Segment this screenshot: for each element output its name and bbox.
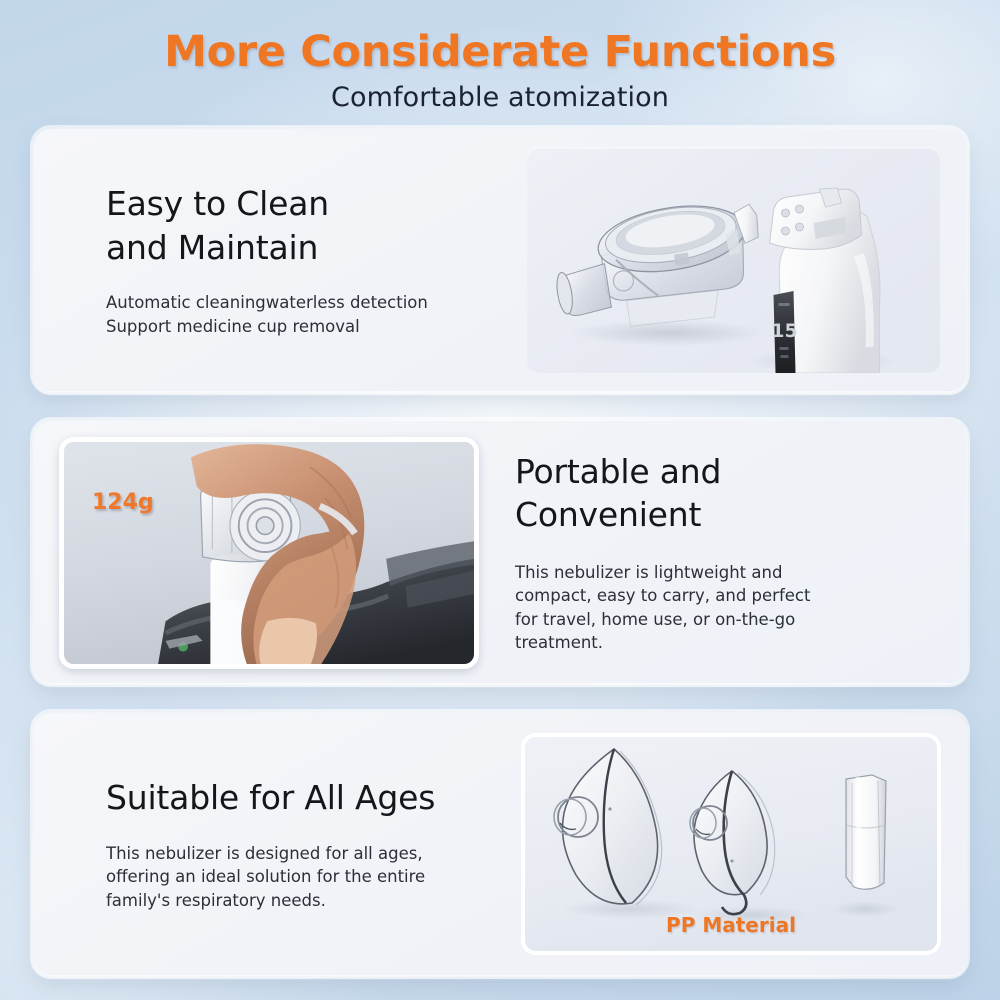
card-text-block: Portable and Convenient This nebulizer i…	[479, 421, 949, 683]
card-body-line-3: for travel, home use, or on-the-go	[515, 608, 810, 631]
device-display-value: 15	[771, 320, 797, 342]
card-heading-line-2: Convenient	[515, 493, 721, 537]
pp-material-label: PP Material	[525, 913, 937, 937]
card-body-line-4: treatment.	[515, 631, 810, 654]
feature-card-easy-to-clean: Easy to Clean and Maintain Automatic cle…	[34, 129, 966, 391]
card-body-line-1: Automatic cleaningwaterless detection	[106, 291, 526, 314]
hand-holding-nebulizer-image: 124g	[59, 437, 479, 669]
mouthpiece	[846, 775, 886, 889]
nebulizer-parts-illustration: 15	[526, 147, 941, 373]
card-body: This nebulizer is designed for all ages,…	[106, 842, 521, 912]
card-heading-line-1: Portable and	[515, 450, 721, 494]
card-body-line-3: family's respiratory needs.	[106, 889, 521, 912]
hand-holding-nebulizer-illustration	[64, 442, 474, 664]
feature-card-all-ages: Suitable for All Ages This nebulizer is …	[34, 713, 966, 975]
card-text-block: Easy to Clean and Maintain Automatic cle…	[34, 129, 526, 391]
card-heading-line-1: Easy to Clean	[106, 182, 526, 226]
nebulizer-parts-image: 15	[526, 147, 941, 373]
card-body: This nebulizer is lightweight and compac…	[515, 561, 810, 655]
card-body-line-2: Support medicine cup removal	[106, 315, 526, 338]
page-header: More Considerate Functions Comfortable a…	[0, 0, 1000, 113]
card-body-line-2: offering an ideal solution for the entir…	[106, 865, 521, 888]
feature-card-list: Easy to Clean and Maintain Automatic cle…	[0, 129, 1000, 975]
card-heading: Portable and Convenient	[515, 450, 721, 537]
card-heading-line-2: and Maintain	[106, 226, 526, 270]
card-heading-line-1: Suitable for All Ages	[106, 776, 521, 820]
card-heading: Easy to Clean and Maintain	[106, 182, 526, 269]
weight-badge: 124g	[92, 490, 154, 515]
page-title: More Considerate Functions	[0, 30, 1000, 75]
card-body-line-1: This nebulizer is designed for all ages,	[106, 842, 521, 865]
card-body: Automatic cleaningwaterless detection Su…	[106, 291, 526, 338]
card-text-block: Suitable for All Ages This nebulizer is …	[34, 713, 521, 975]
card-heading: Suitable for All Ages	[106, 776, 521, 820]
card-body-line-2: compact, easy to carry, and perfect	[515, 584, 810, 607]
feature-card-portable: 124g Portable and Convenient This nebuli…	[34, 421, 966, 683]
page-subtitle: Comfortable atomization	[0, 82, 1000, 113]
card-body-line-1: This nebulizer is lightweight and	[515, 561, 810, 584]
accessories-image: PP Material	[521, 733, 941, 955]
